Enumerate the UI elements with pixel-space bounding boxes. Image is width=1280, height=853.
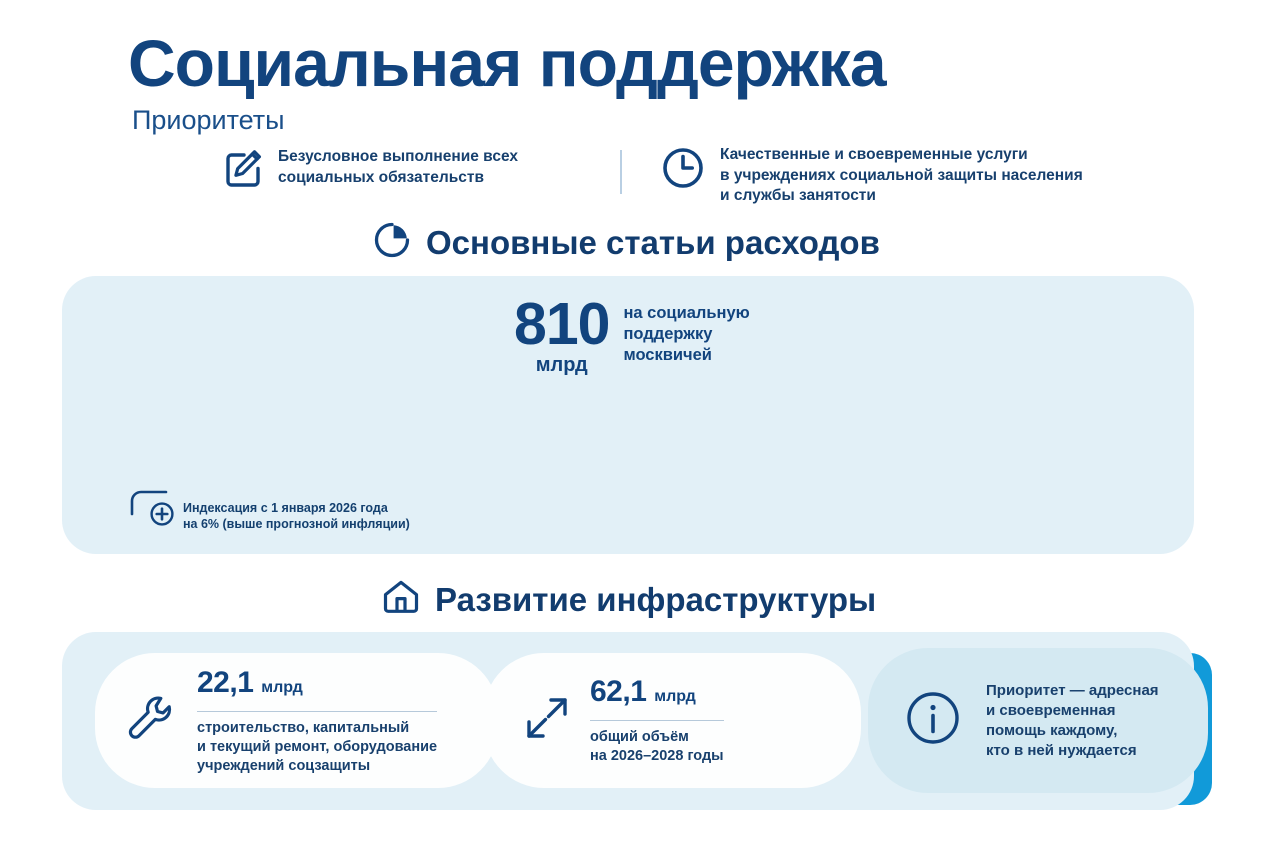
expenses-heading-text: Основные статьи расходов [426, 224, 880, 262]
infrastructure-section-heading: Развитие инфраструктуры [380, 576, 876, 623]
page-subtitle: Приоритеты [132, 104, 285, 136]
stat-divider [590, 720, 724, 721]
priority-item-2-text: Качественные и своевременные услуги в уч… [720, 145, 1083, 207]
infrastructure-heading-text: Развитие инфраструктуры [435, 581, 876, 619]
priority-item-1: Безусловное выполнение всех социальных о… [222, 147, 518, 194]
infrastructure-stat-total-value: 62,1 [590, 675, 646, 708]
plus-circle-icon [150, 502, 174, 531]
priority-item-1-text: Безусловное выполнение всех социальных о… [278, 147, 518, 188]
infrastructure-stat-construction-value-wrap: 22,1 млрд [197, 666, 437, 705]
indexation-callout-text: Индексация с 1 января 2026 года на 6% (в… [183, 500, 410, 532]
clock-icon [660, 145, 706, 196]
infrastructure-stat-total-unit: млрд [654, 688, 696, 705]
edit-square-icon [222, 147, 264, 194]
page-title: Социальная поддержка [128, 28, 886, 98]
total-expenses-unit: млрд [514, 354, 609, 376]
infrastructure-stat-construction-unit: млрд [261, 679, 303, 696]
total-expenses-desc: на социальную поддержку москвичей [623, 303, 749, 366]
home-icon [380, 576, 422, 623]
priority-item-2: Качественные и своевременные услуги в уч… [660, 145, 1083, 207]
infrastructure-stat-construction-value: 22,1 [197, 666, 253, 699]
infrastructure-stat-construction[interactable]: 22,1 млрд строительство, капитальный и т… [95, 653, 498, 788]
wrench-icon [123, 690, 179, 751]
pie-chart-icon [371, 219, 413, 266]
infrastructure-note-text: Приоритет — адресная и своевременная пом… [986, 681, 1159, 761]
total-expenses-value-wrap: 810 млрд [514, 295, 609, 376]
infrastructure-stat-construction-desc: строительство, капитальный и текущий рем… [197, 719, 437, 776]
infrastructure-note-card: Приоритет — адресная и своевременная пом… [868, 648, 1208, 793]
infrastructure-stat-total-value-wrap: 62,1 млрд [590, 675, 724, 714]
infrastructure-stat-total-body: 62,1 млрд общий объём на 2026–2028 годы [590, 675, 724, 766]
infrastructure-stat-total[interactable]: 62,1 млрд общий объём на 2026–2028 годы [484, 653, 861, 788]
priorities-divider [620, 150, 622, 194]
infrastructure-stat-construction-body: 22,1 млрд строительство, капитальный и т… [197, 666, 437, 776]
infrastructure-panel: 22,1 млрд строительство, капитальный и т… [62, 632, 1194, 810]
infographic-page: Социальная поддержка Приоритеты Безуслов… [0, 0, 1280, 853]
total-expenses-value: 810 [514, 291, 609, 357]
stat-divider [197, 711, 437, 712]
infrastructure-stat-total-desc: общий объём на 2026–2028 годы [590, 728, 724, 766]
info-circle-icon [902, 687, 964, 754]
total-expenses-block: 810 млрд на социальную поддержку москвич… [514, 295, 750, 376]
expand-arrows-icon [522, 693, 572, 748]
expenses-section-heading: Основные статьи расходов [371, 219, 880, 266]
indexation-callout: Индексация с 1 января 2026 года на 6% (в… [150, 500, 410, 532]
